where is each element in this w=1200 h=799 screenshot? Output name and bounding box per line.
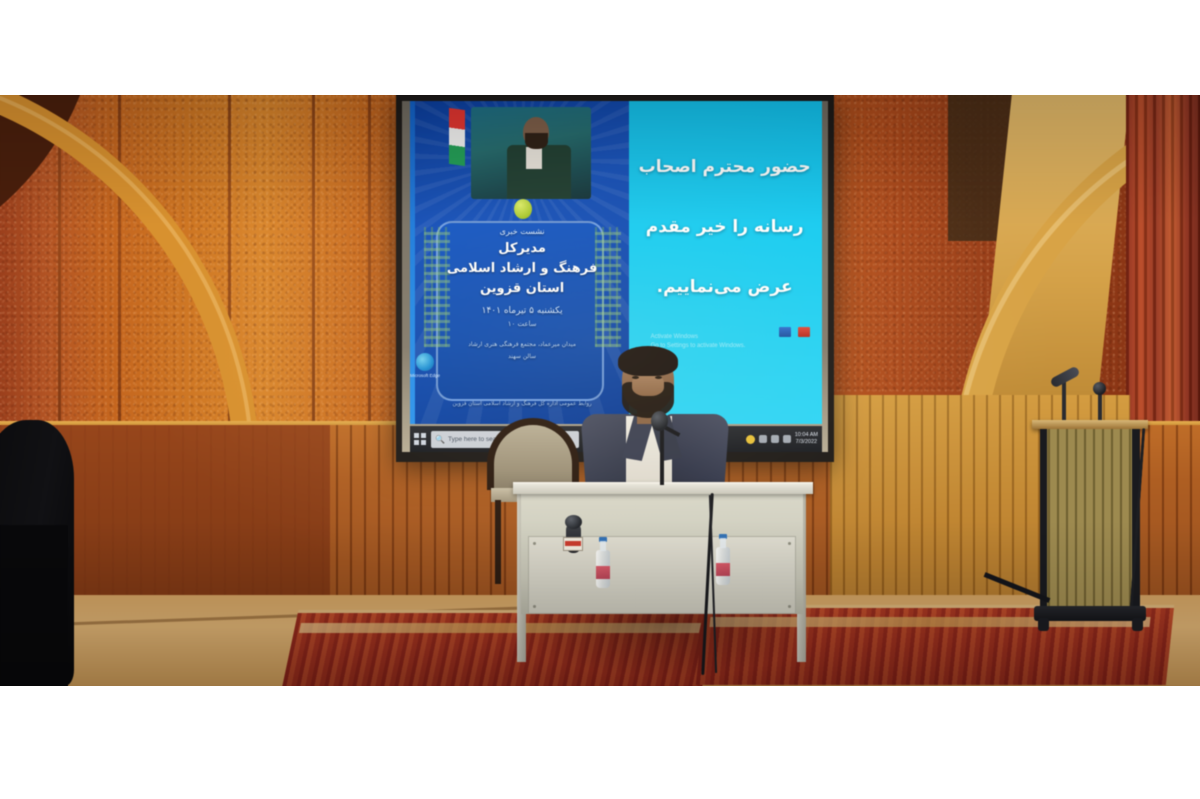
letterbox-bottom [0, 686, 1200, 799]
chair-leg [495, 500, 501, 584]
table-floor-shadow [505, 607, 825, 677]
wall-seam [312, 95, 315, 425]
speaker-eye [655, 376, 662, 379]
water-bottle [716, 547, 730, 585]
lectern-caster [1132, 618, 1143, 631]
poster-kicker: نشست خبری [415, 227, 629, 236]
bottle-body [596, 550, 610, 588]
start-tile [414, 433, 419, 438]
lectern-base [1034, 606, 1146, 621]
letterbox-top [0, 0, 1200, 95]
welcome-line-2: رسانه را خیر مقدم [627, 217, 822, 237]
wall-seam [368, 95, 371, 425]
start-tile [414, 440, 419, 445]
microphone-flag-logo-mark [565, 541, 581, 546]
conference-photo: حضور محترم اصحاب رسانه را خیر مقدم عرض م… [0, 95, 1200, 686]
start-tile [421, 440, 426, 445]
welcome-line-3: عرض می‌نماییم. [627, 277, 822, 297]
person-in-black-chador-lower [0, 525, 68, 686]
poster-address-line-1: میدان میرعماد، مجتمع فرهنگی هنری ارشاد [415, 341, 629, 348]
panel-screw [788, 542, 791, 545]
system-tray[interactable]: 10:04 AM 7/3/2022 [746, 432, 818, 446]
bottle-label [596, 566, 610, 579]
bottle-neck [720, 538, 726, 548]
slide-icon-blue [779, 327, 791, 337]
watermark-title: Activate Windows [651, 333, 799, 342]
official-portrait [471, 107, 591, 199]
lectern-caster [1038, 618, 1049, 631]
microphone-head [651, 411, 668, 431]
poster-line-2: فرهنگ و ارشاد اسلامی [415, 261, 629, 276]
iran-flag-graphic [449, 108, 465, 166]
chair-backrest [487, 418, 579, 490]
microsoft-edge-icon[interactable] [416, 353, 434, 371]
screenshot-root: حضور محترم اصحاب رسانه را خیر مقدم عرض م… [0, 0, 1200, 799]
windows-start-icon[interactable] [414, 433, 426, 445]
poster-line-1: مدیرکل [415, 241, 629, 256]
poster-medal-emblem [514, 199, 532, 219]
microphone-stand [660, 425, 664, 485]
slide-thumbnail-icons [779, 327, 810, 337]
lectern-microphone-stem [1062, 382, 1066, 424]
search-icon: 🔍 [435, 435, 445, 444]
slide-icon-red [798, 327, 810, 337]
bottle-body [716, 547, 730, 585]
taskbar-clock[interactable]: 10:04 AM 7/3/2022 [795, 432, 818, 446]
water-bottle [596, 550, 610, 588]
poster-line-3: استان قزوین [415, 281, 629, 296]
speaker-hair [618, 346, 678, 376]
lectern-microphone-stem [1098, 390, 1102, 424]
poster-time: ساعت ۱۰ [415, 320, 629, 328]
lectern-top-surface [1032, 420, 1148, 429]
panel-screw [533, 605, 536, 608]
panel-screw [533, 542, 536, 545]
tray-volume-icon[interactable] [771, 435, 779, 443]
poster-date: یکشنبه ۵ تیرماه ۱۴۰۱ [415, 306, 629, 316]
wooden-lectern [1040, 420, 1140, 635]
tray-network-icon[interactable] [759, 435, 767, 443]
bottle-label [716, 563, 730, 576]
portrait-shirt [526, 147, 542, 169]
portrait-beard [525, 133, 548, 149]
handheld-microphone-head [565, 515, 582, 529]
bottle-neck [600, 541, 606, 551]
start-tile [421, 433, 426, 438]
welcome-line-1: حضور محترم اصحاب [627, 157, 822, 177]
lectern-body [1040, 429, 1140, 609]
lectern-microphone-head [1093, 382, 1106, 395]
activate-windows-watermark: Activate Windows Go to Settings to activ… [651, 333, 799, 351]
clock-date: 7/3/2022 [795, 439, 818, 446]
speaker-eye [632, 376, 639, 379]
clock-time: 10:04 AM [795, 432, 818, 439]
panel-screw [788, 605, 791, 608]
microsoft-edge-label: Microsoft Edge [408, 373, 442, 378]
tray-battery-icon[interactable] [783, 435, 791, 443]
